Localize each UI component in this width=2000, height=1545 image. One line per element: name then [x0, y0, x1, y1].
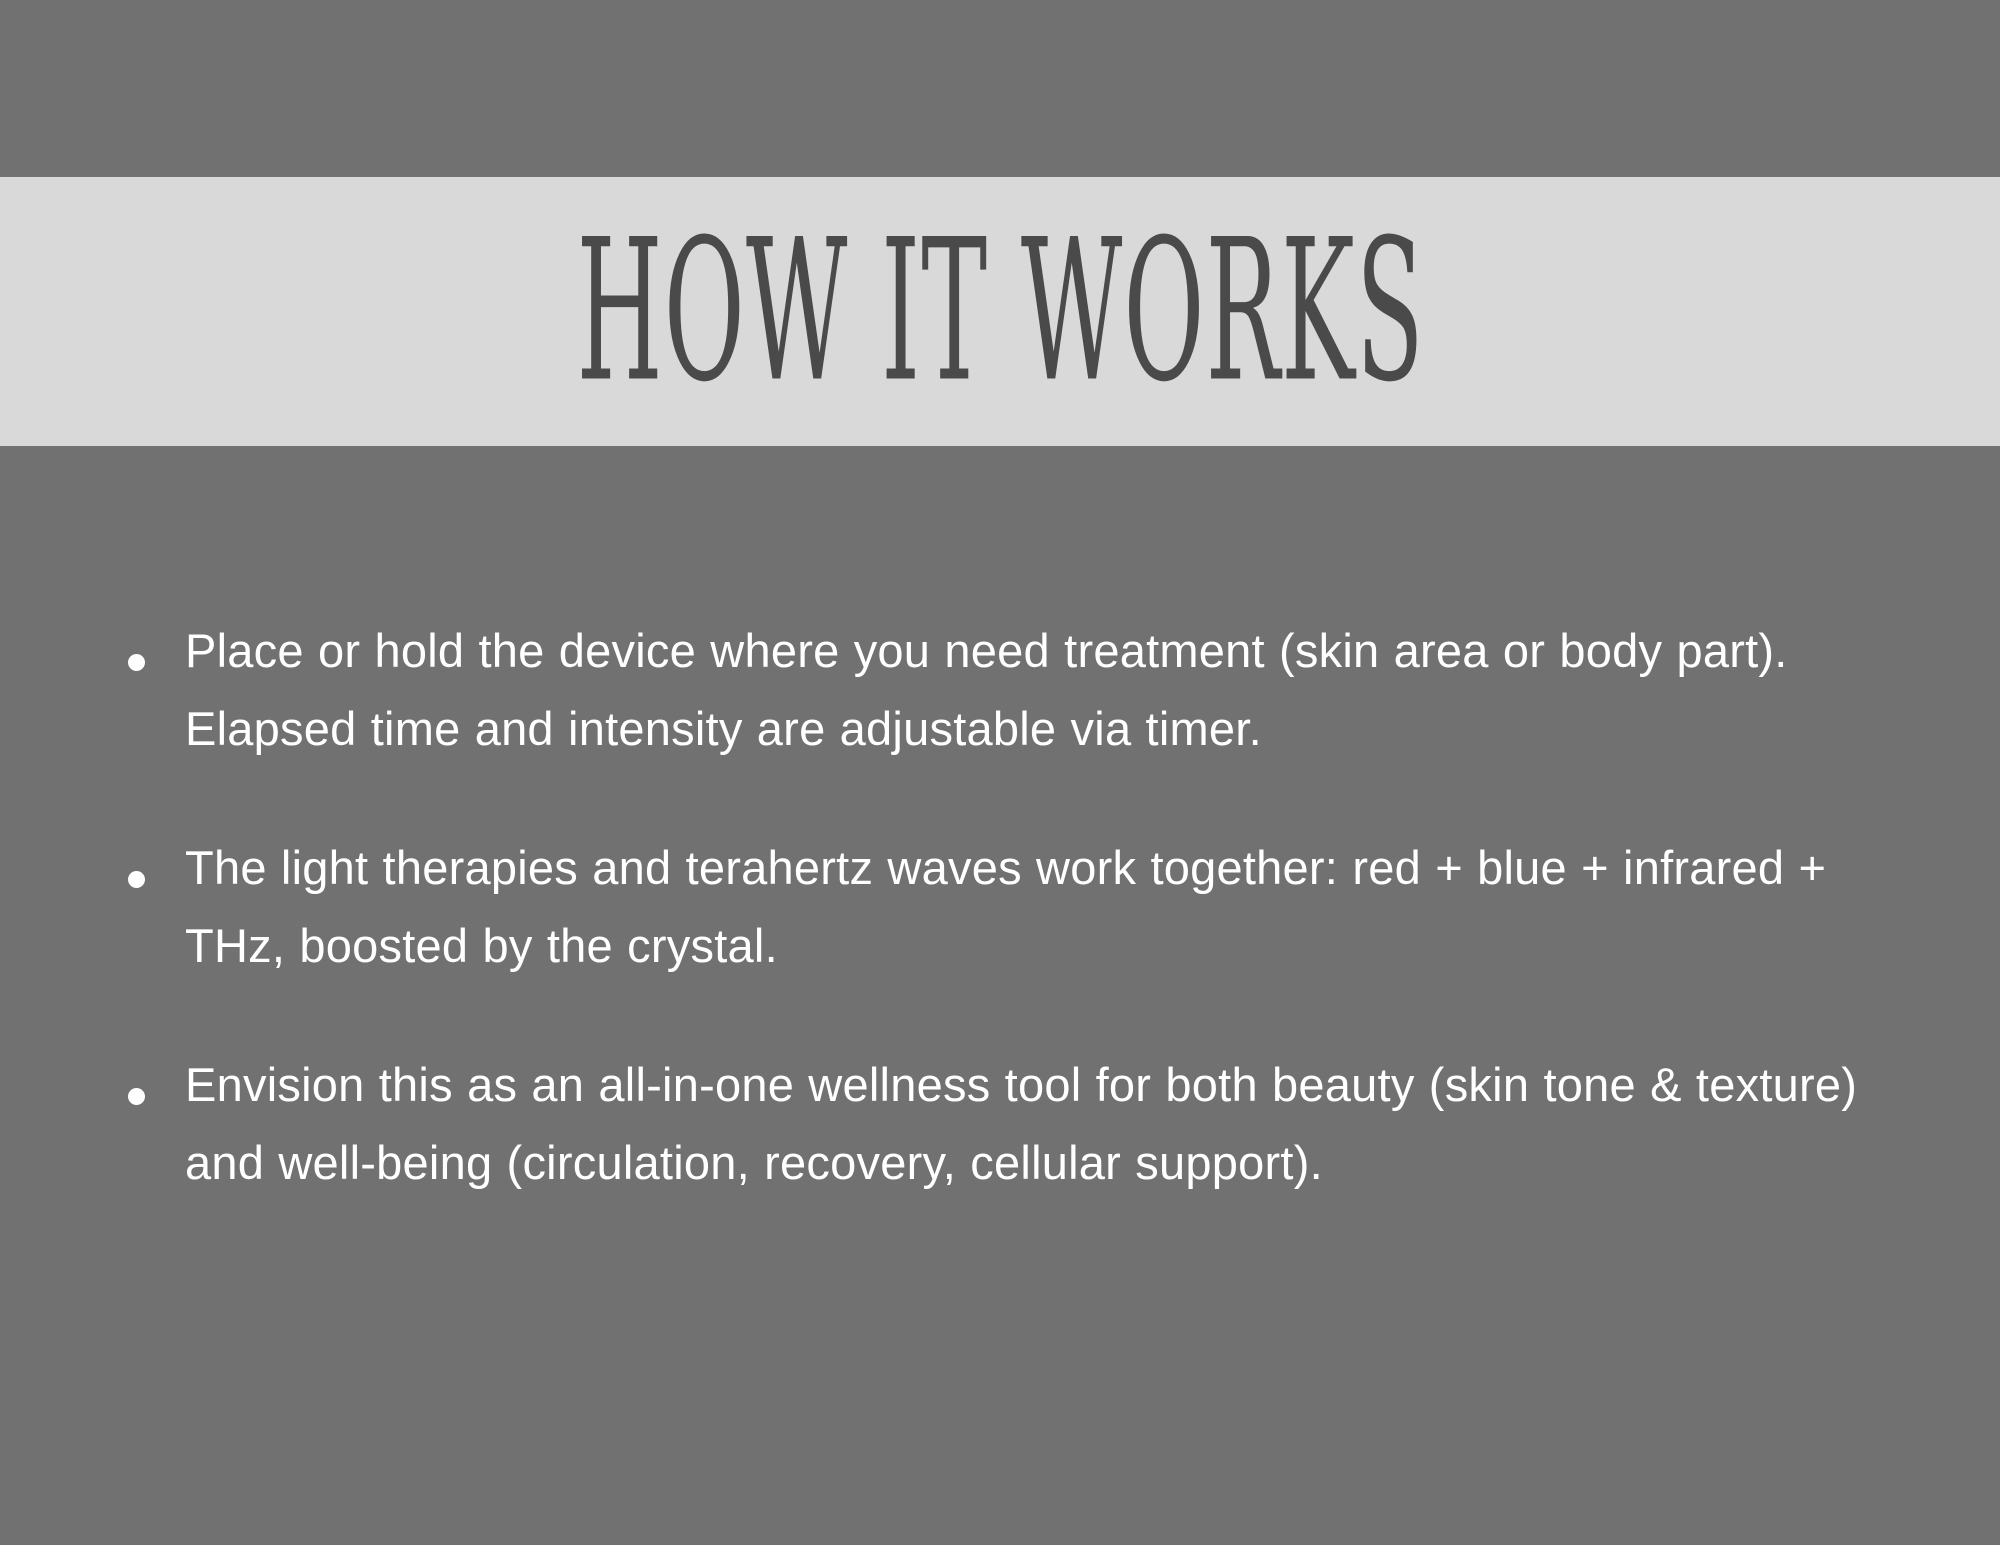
- bullet-point-icon: [128, 1088, 145, 1105]
- slide-how-it-works: HOW IT WORKS Place or hold the device wh…: [0, 0, 2000, 1545]
- list-item-text: Place or hold the device where you need …: [185, 624, 1788, 755]
- page-title: HOW IT WORKS: [575, 214, 1425, 410]
- bullet-point-icon: [128, 654, 145, 671]
- bullet-list: Place or hold the device where you need …: [128, 612, 1918, 1202]
- list-item-text: The light therapies and terahertz waves …: [185, 841, 1826, 972]
- list-item: The light therapies and terahertz waves …: [128, 829, 1918, 985]
- bullet-point-icon: [128, 871, 145, 888]
- list-item: Place or hold the device where you need …: [128, 612, 1918, 768]
- body-content: Place or hold the device where you need …: [128, 612, 1918, 1202]
- list-item-text: Envision this as an all-in-one wellness …: [185, 1058, 1857, 1189]
- title-band: HOW IT WORKS: [0, 177, 2000, 446]
- list-item: Envision this as an all-in-one wellness …: [128, 1046, 1918, 1202]
